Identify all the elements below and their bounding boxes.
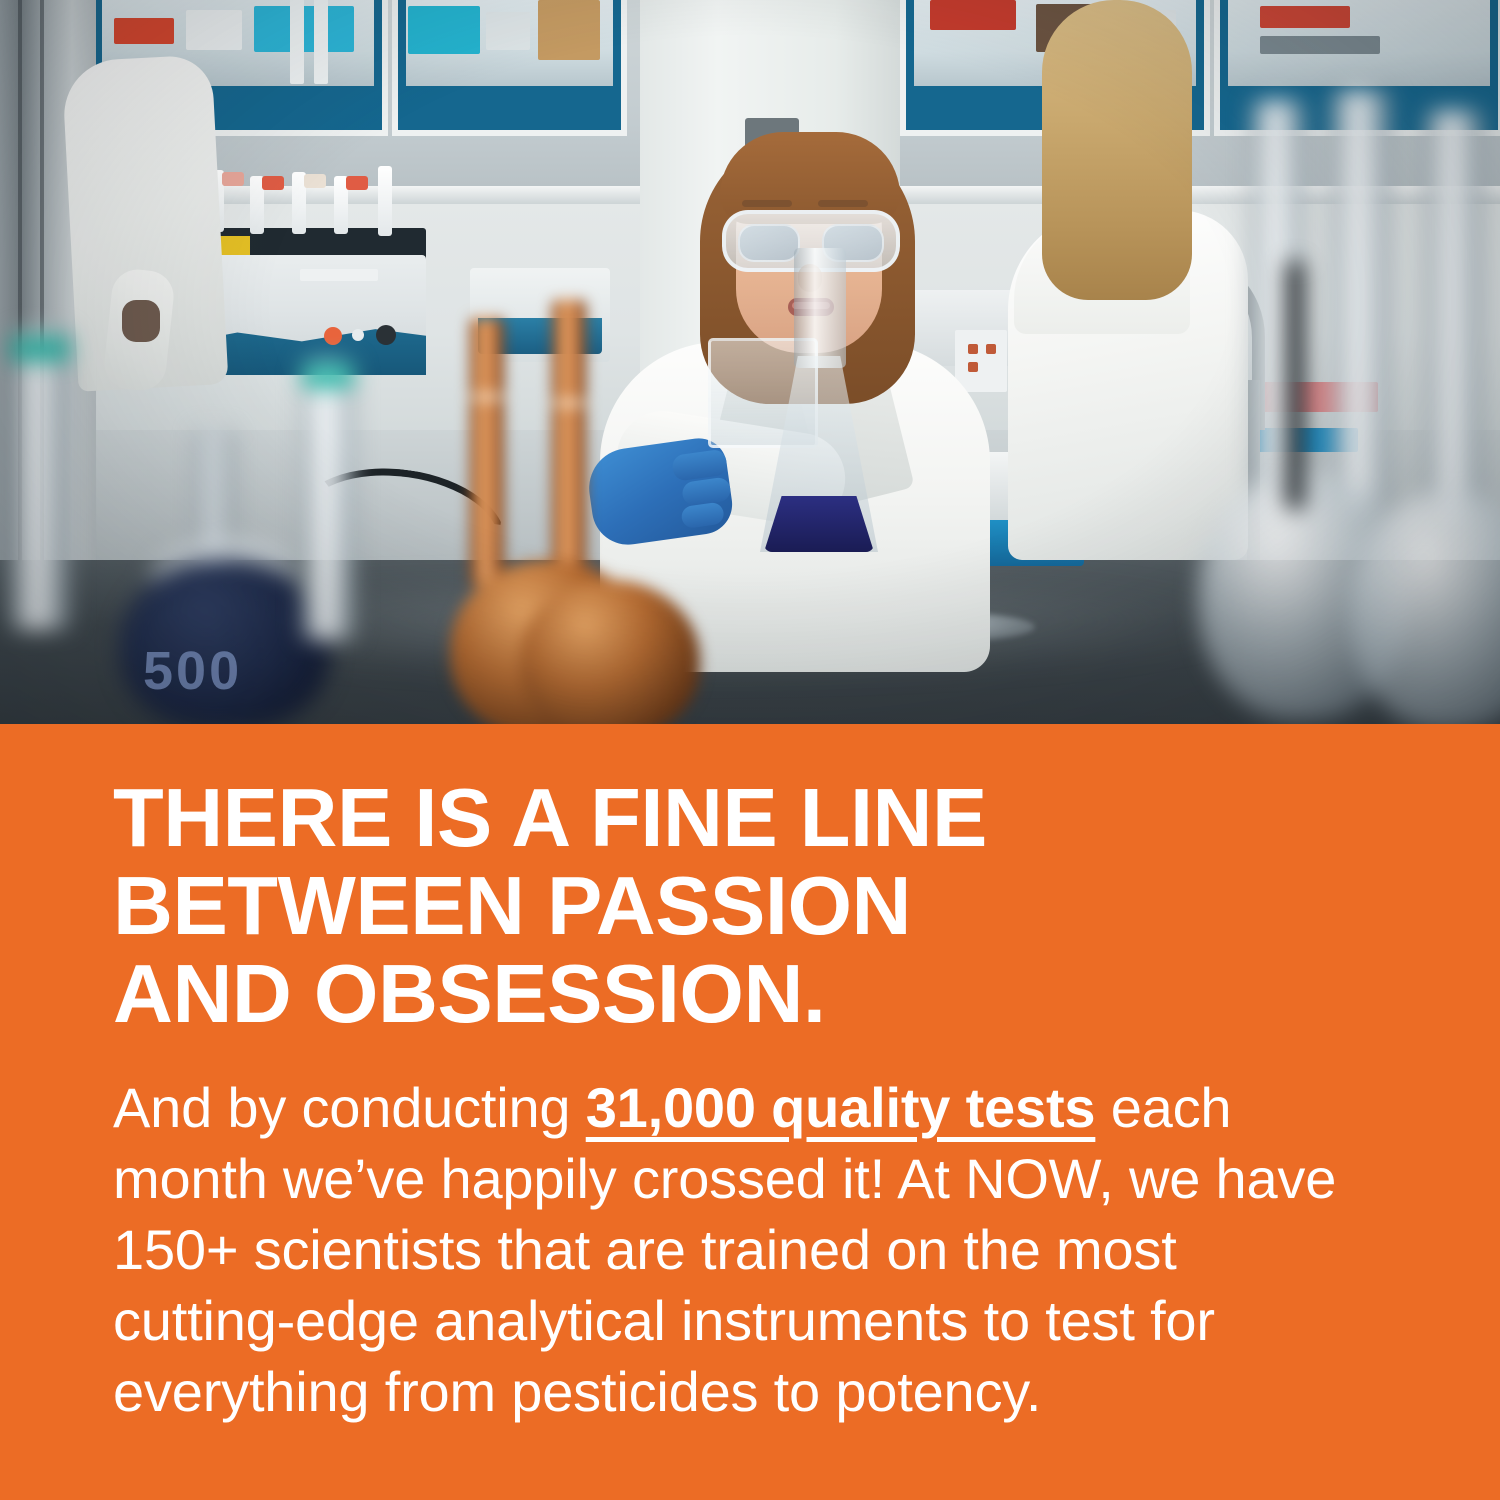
body-paragraph: And by conducting 31,000 quality tests e… (113, 1072, 1363, 1427)
advertisement-banner: 500 THERE IS A FINE LINE BETWEEN PASSION… (0, 0, 1500, 1500)
orange-message-panel: THERE IS A FINE LINE BETWEEN PASSION AND… (0, 724, 1500, 1500)
photo-vignette (0, 0, 1500, 724)
body-text-before: And by conducting (113, 1076, 586, 1139)
page-title: THERE IS A FINE LINE BETWEEN PASSION AND… (113, 774, 1413, 1038)
panel-content: THERE IS A FINE LINE BETWEEN PASSION AND… (113, 774, 1413, 1427)
lab-photograph: 500 (0, 0, 1500, 724)
quality-tests-emphasis: 31,000 quality tests (586, 1076, 1096, 1139)
